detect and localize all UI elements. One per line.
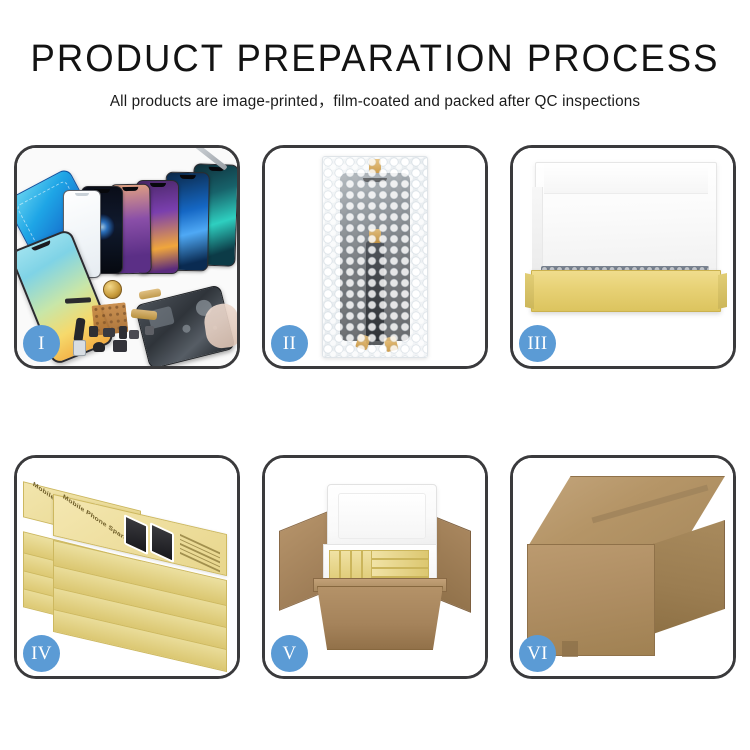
- small-part-icon: [129, 330, 139, 339]
- process-step-panel-1: I: [14, 145, 240, 369]
- lid-phone-thumb-icon: [150, 522, 174, 563]
- box-stack-front: Mobile Phone Spare Parts: [53, 514, 225, 666]
- vibration-motor-icon: [103, 280, 122, 299]
- process-step-panel-4: Mobile Phone Spare Parts: [14, 455, 240, 679]
- white-foam-lid-icon: [535, 162, 717, 282]
- tape-icon: [369, 159, 381, 173]
- gold-flex-icon: [131, 309, 158, 321]
- infographic-page: PRODUCT PREPARATION PROCESS All products…: [0, 0, 750, 750]
- bubble-wrap-bag-icon: [322, 156, 428, 358]
- lcd-flex-cable-icon: [366, 241, 384, 345]
- small-part-icon: [119, 326, 127, 339]
- tape-icon: [355, 333, 371, 350]
- tape-icon: [369, 229, 381, 243]
- gold-connector-icon: [138, 288, 161, 300]
- foam-box-lid-icon: [327, 484, 437, 552]
- speaker-icon: [93, 342, 105, 352]
- sim-tray-icon: [73, 340, 86, 356]
- small-part-icon: [103, 328, 115, 337]
- page-subtitle: All products are image-printed，film-coat…: [6, 89, 745, 111]
- step-badge-1: I: [23, 325, 60, 362]
- carton-tab-icon: [562, 641, 578, 657]
- spare-parts-group: [69, 282, 187, 360]
- step-badge-3: III: [519, 325, 556, 362]
- process-step-grid: I II: [14, 145, 736, 679]
- long-flex-icon: [73, 317, 85, 342]
- camera-module-icon: [113, 340, 127, 352]
- step-badge-2: II: [271, 325, 308, 362]
- carton-body-icon: [317, 586, 443, 650]
- yellow-box-base-icon: [531, 270, 721, 312]
- process-step-panel-2: II: [262, 145, 488, 369]
- header: PRODUCT PREPARATION PROCESS All products…: [0, 36, 750, 111]
- process-step-panel-3: III: [510, 145, 736, 369]
- box-stack-group: Mobile Phone Spare Parts: [23, 470, 231, 666]
- step-badge-4: IV: [23, 635, 60, 672]
- process-step-panel-6: VI: [510, 455, 736, 679]
- step-badge-6: VI: [519, 635, 556, 672]
- small-part-icon: [145, 326, 154, 335]
- process-step-panel-5: V: [262, 455, 488, 679]
- small-part-icon: [89, 326, 98, 337]
- flex-cable-icon: [65, 297, 91, 303]
- carton-tape-icon: [591, 485, 708, 524]
- phone-lineup-group: [63, 162, 237, 272]
- lid-phone-thumb-icon: [124, 514, 148, 555]
- step-badge-5: V: [271, 635, 308, 672]
- page-title: PRODUCT PREPARATION PROCESS: [15, 36, 735, 82]
